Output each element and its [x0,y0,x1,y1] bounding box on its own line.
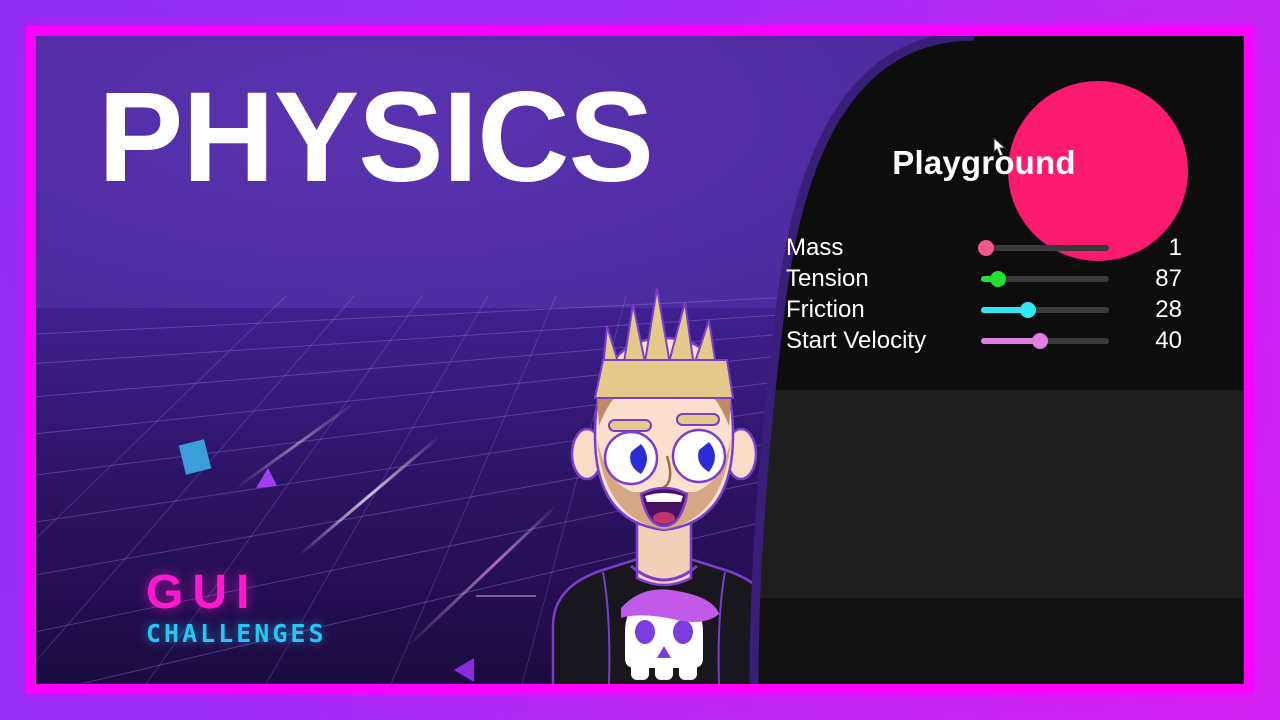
control-row-mass: Mass 1 [786,232,1182,263]
label-friction: Friction [786,298,971,322]
start-velocity-slider-thumb[interactable] [1032,333,1048,349]
panel-demo-bg [724,390,1244,598]
avatar-hair [595,288,733,398]
avatar-eyebrow-right [677,414,719,425]
panel-footer-bg [724,598,1244,684]
avatar-eyebrow-left [609,420,651,431]
playground-controls: Mass 1 Tension 87 [786,232,1182,356]
value-start-velocity: 40 [1119,329,1182,353]
value-mass: 1 [1119,236,1182,260]
panel-shape [724,36,1244,684]
label-start-velocity: Start Velocity [786,329,971,353]
slider-track-mass[interactable] [981,245,1109,251]
mass-slider-thumb[interactable] [978,240,994,256]
playground-panel: Playground Mass 1 Tension [724,36,1244,684]
slider-friction[interactable] [981,300,1109,320]
stage: PHYSICS GUI CHALLENGES [36,36,1244,684]
slider-fill-start-velocity [981,338,1039,344]
slider-tension[interactable] [981,269,1109,289]
tension-slider-thumb[interactable] [990,271,1006,287]
value-tension: 87 [1119,267,1182,291]
shape-purple-triangle-left [454,658,474,682]
page-title: PHYSICS [98,74,653,202]
shape-blue-square [179,439,211,474]
friction-slider-thumb[interactable] [1020,302,1036,318]
logo-challenges-text: CHALLENGES [146,621,327,646]
label-tension: Tension [786,267,971,291]
gui-challenges-logo: GUI CHALLENGES [146,569,327,646]
video-frame: PHYSICS GUI CHALLENGES [0,0,1280,720]
slider-mass[interactable] [981,238,1109,258]
control-row-start-velocity: Start Velocity 40 [786,325,1182,356]
panel-title: Playground [724,144,1244,182]
slider-start-velocity[interactable] [981,331,1109,351]
control-row-tension: Tension 87 [786,263,1182,294]
control-row-friction: Friction 28 [786,294,1182,325]
value-friction: 28 [1119,298,1182,322]
label-mass: Mass [786,236,971,260]
logo-gui-text: GUI [146,569,327,617]
